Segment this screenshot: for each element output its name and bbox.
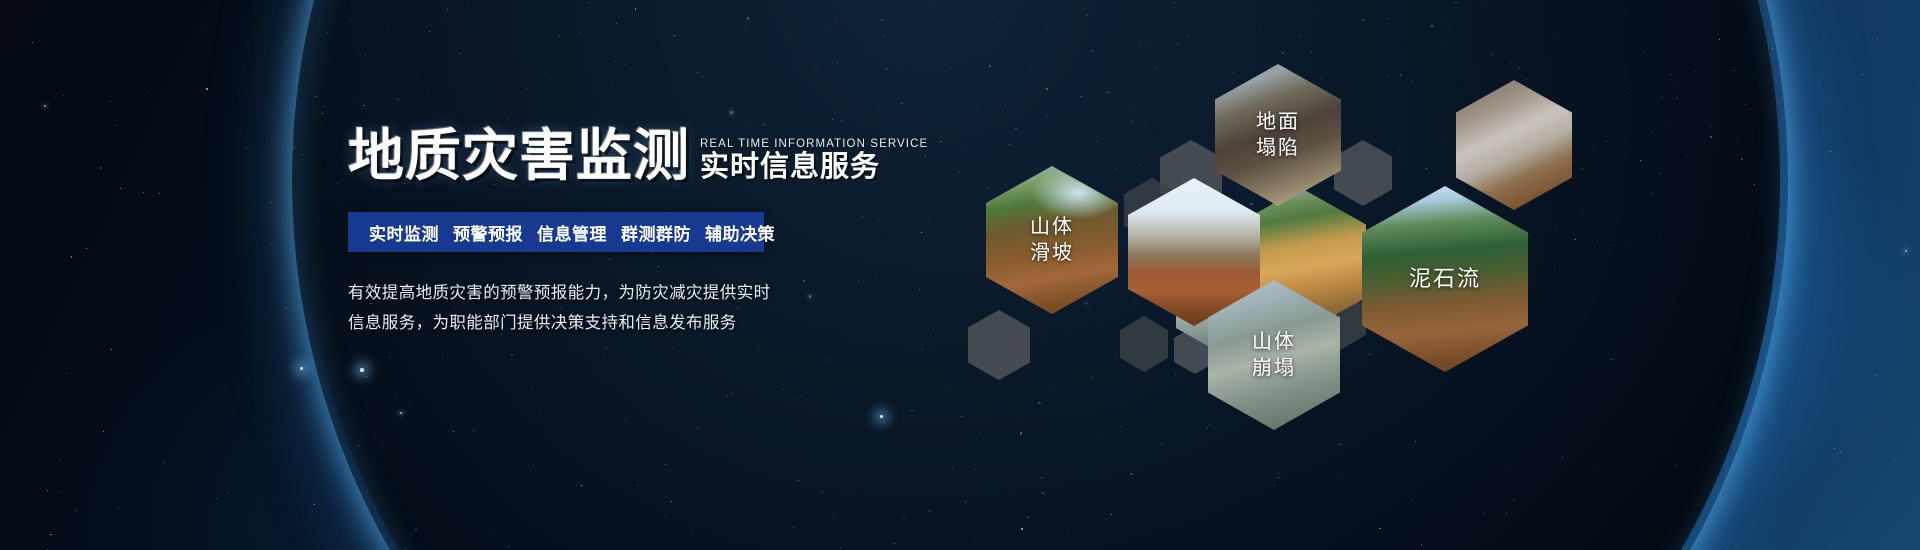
- hexagon-sinkhole[interactable]: 地面 塌陷: [1215, 64, 1341, 206]
- hexagon-label-debrisflow: 泥石流: [1409, 266, 1481, 292]
- hexagon-label-collapse: 山体 崩塌: [1252, 329, 1296, 381]
- deco-hexagon: [1334, 140, 1392, 206]
- hero-banner: 地质灾害监测 REAL TIME INFORMATION SERVICE 实时信…: [0, 0, 1920, 550]
- deco-hexagon: [1120, 316, 1168, 372]
- hexagon-label-landslide: 山体 滑坡: [1030, 214, 1074, 266]
- hexagon-landslide[interactable]: 山体 滑坡: [986, 166, 1118, 314]
- hexagon-debrisflow[interactable]: 泥石流: [1362, 186, 1528, 372]
- hexagon-rockfall[interactable]: [1456, 80, 1572, 210]
- hexagon-label-sinkhole: 地面 塌陷: [1256, 109, 1300, 161]
- hexagon-photo-rockfall: [1456, 80, 1572, 210]
- hexagon-cluster: 山体 滑坡 地面 塌陷 山体 崩塌 泥石流: [0, 0, 1920, 550]
- deco-hexagon: [968, 310, 1030, 380]
